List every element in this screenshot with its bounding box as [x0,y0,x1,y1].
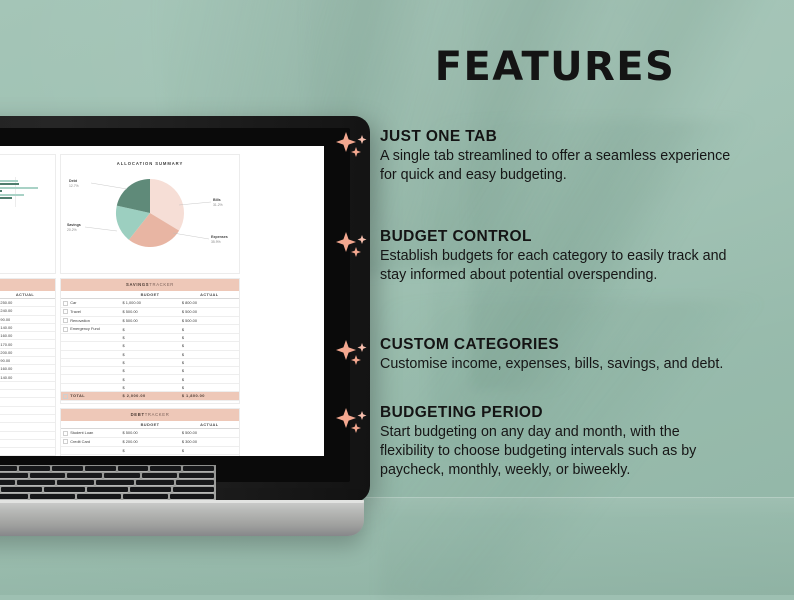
checkbox-icon[interactable] [63,301,68,306]
checkbox-icon[interactable] [63,318,68,323]
sparkle-icon [334,406,372,440]
cell-category[interactable] [61,383,120,391]
cell-amount[interactable]: $ [0,381,55,389]
cell-amount[interactable]: $ 1,000.00 [120,299,179,308]
bar-track [0,186,47,193]
cell-amount[interactable]: $ 500.00 [120,307,179,316]
cell-amount[interactable]: $ 2,000.00 [120,392,179,401]
feature-item-budget-control: BUDGET CONTROL Establish budgets for eac… [380,228,732,285]
savings-tracker-table: BUDGETACTUALCar$ 1,000.00$ 800.00Travel$… [61,291,239,401]
sparkle-icon [334,230,372,264]
feature-title: CUSTOM CATEGORIES [380,336,732,354]
cell-amount[interactable]: $ [180,383,239,391]
allocation-title: ALLOCATION SUMMARY [61,155,239,169]
table-row: $$ [61,334,239,342]
pie-percent-bills: 31.2% [213,203,223,207]
keyboard-row [0,486,216,493]
keyboard-key[interactable] [0,466,17,471]
pie-label-bills: Bills [213,198,221,202]
cell-amount[interactable]: $ [0,423,55,431]
cell-amount[interactable]: $ [120,367,179,375]
debt-tracker-header: DEBTTRACKER [61,409,239,421]
debt-tracker-panel: DEBTTRACKER BUDGETACTUALStudent Loan$ 50… [60,408,240,456]
column-header: BUDGET [120,291,179,299]
checkbox-icon[interactable] [63,309,68,314]
pie-percent-debt: 12.7% [69,184,79,188]
cell-amount[interactable]: $ [180,325,239,334]
cell-amount[interactable]: $ 240.00 [0,307,55,315]
column-header: BUDGET [120,421,179,429]
table-row: $$ [61,446,239,454]
bar-group: Expenses [0,186,47,193]
bar-track [0,193,47,200]
table-row: $$ [61,350,239,358]
cell-amount[interactable]: $ 800.00 [180,299,239,308]
keyboard-key[interactable] [30,473,65,478]
cell-amount[interactable]: $ [180,334,239,342]
cell-category[interactable]: Emergency Fund [61,325,120,334]
cell-amount[interactable]: $ 1,800.00 [180,392,239,401]
column-header-category [61,291,120,299]
keyboard-key[interactable] [104,473,139,478]
keyboard-key[interactable] [77,494,122,499]
cash-flow-bar-chart: BillsExpensesSavingsDebt [0,177,55,207]
bar-budget [0,180,18,182]
table-row: Student Loan$ 500.00$ 500.00 [61,429,239,438]
table-row: $$ [0,415,55,423]
pie-percent-savings: 20.2% [67,228,77,232]
cell-amount[interactable]: $ [120,375,179,383]
cell-category[interactable] [61,350,120,358]
cell-amount[interactable]: $ 140.00 [0,373,55,381]
feature-title: JUST ONE TAB [380,128,732,146]
cell-amount[interactable]: $ [0,390,55,398]
cell-amount[interactable]: $ [0,415,55,423]
cell-category[interactable] [61,367,120,375]
cell-amount[interactable]: $ 500.00 [180,429,239,438]
pie-percent-expenses: 35.9% [211,240,221,244]
column-header: ACTUAL [180,421,239,429]
table-row: Self-development$ 250.00$ 160.00 [0,365,55,373]
bar-track [0,179,47,186]
keyboard-key[interactable] [118,466,149,471]
keyboard-key[interactable] [1,487,42,492]
cell-amount[interactable]: $ [0,439,55,447]
cell-amount[interactable]: $ [0,398,55,406]
checkbox-icon[interactable] [63,439,68,444]
feature-title: BUDGET CONTROL [380,228,732,246]
table-row: Emergency Fund$$ [61,325,239,334]
feature-body: A single tab streamlined to offer a seam… [380,147,732,185]
table-row: Food$ 300.00$ 250.00 [0,299,55,307]
keyboard-key[interactable] [0,473,28,478]
cell-category[interactable]: Student Loan [61,429,120,438]
features-column: FEATURES JUST ONE TAB A single tab strea… [312,0,794,595]
sparkle-icon [334,338,372,372]
cell-category[interactable]: Renovation [61,316,120,325]
keyboard-row [0,493,216,500]
allocation-summary-panel: ALLOCATION SUMMARY Bills 31.2% Expenses [60,154,240,274]
table-row: Renovation$ 500.00$ 500.00 [61,316,239,325]
table-row: Entertainment$ 200.00$ 140.00 [0,373,55,381]
keyboard-key[interactable] [136,480,174,485]
keyboard-row [0,465,216,472]
table-row: Household$ 150.00$ 140.00 [0,323,55,331]
keyboard-key[interactable] [123,494,168,499]
savings-tracker-panel: SAVINGSTRACKER BUDGETACTUALCar$ 1,000.00… [60,278,240,404]
laptop-bezel: LEFT TO SPEND $1,517 CASH FLOW SUMMARY B… [0,128,350,482]
bar-actual [0,190,2,192]
keyboard-key[interactable] [85,466,116,471]
cell-amount[interactable]: $ [120,446,179,454]
cell-amount[interactable]: $ 500.00 [180,307,239,316]
feature-item-custom-categories: CUSTOM CATEGORIES Customise income, expe… [380,336,732,374]
feature-item-budgeting-period: BUDGETING PERIOD Start budgeting on any … [380,404,732,480]
cell-amount[interactable]: $ [0,406,55,414]
table-row: $$ [0,423,55,431]
table-row: Health$ 200.00$ 170.00 [0,340,55,348]
cell-amount[interactable]: $ [0,448,55,456]
keyboard-key[interactable] [19,466,50,471]
bar-actual [0,197,12,199]
cell-amount[interactable]: $ [180,375,239,383]
cell-amount[interactable]: $ [120,454,179,456]
cell-amount[interactable]: $ 500.00 [180,316,239,325]
cell-category[interactable] [61,334,120,342]
table-row: Travel$ 500.00$ 500.00 [61,307,239,316]
cell-category[interactable]: TOTAL [61,392,120,401]
table-total-row: TOTAL$ 2,000.00$ 1,800.00 [61,392,239,401]
pie-label-savings: Savings [67,223,81,227]
table-header-row: BUDGETACTUAL [61,421,239,429]
keyboard-key[interactable] [87,487,128,492]
keyboard-key[interactable] [30,494,75,499]
cell-amount[interactable]: $ 90.00 [0,357,55,365]
pie-label-expenses: Expenses [211,235,228,239]
laptop-screen: LEFT TO SPEND $1,517 CASH FLOW SUMMARY B… [0,146,324,456]
checkbox-icon[interactable] [63,327,68,332]
keyboard-key[interactable] [179,473,214,478]
cash-flow-title: CASH FLOW SUMMARY [0,155,55,169]
laptop-base-edge [0,500,364,503]
table-header-row: BUDGETACTUAL [0,291,55,299]
cell-amount[interactable]: $ 170.00 [0,340,55,348]
cell-category[interactable]: Credit Card [61,437,120,446]
cell-amount[interactable]: $ [120,383,179,391]
column-header-category [61,421,120,429]
bar-budget [0,194,24,196]
feature-body: Start budgeting on any day and month, wi… [380,423,732,480]
keyboard-key[interactable] [52,466,83,471]
keyboard-key[interactable] [17,480,55,485]
keyboard-key[interactable] [96,480,134,485]
table-row: $$ [0,448,55,456]
table-row: Education$ 200.00$ 160.00 [0,332,55,340]
table-row: Car$ 1,000.00$ 800.00 [61,299,239,308]
keyboard-key[interactable] [170,494,215,499]
keyboard-key[interactable] [176,480,214,485]
column-header: ACTUAL [0,291,55,299]
bar-budget [0,187,38,189]
debt-tracker-table: BUDGETACTUALStudent Loan$ 500.00$ 500.00… [61,421,239,456]
bar-group: Debt [0,200,47,207]
cell-amount[interactable]: $ 200.00 [120,437,179,446]
keyboard-key[interactable] [173,487,214,492]
table-row: Gifts$ 100.00$ 90.00 [0,357,55,365]
expense-summary-panel: EXPENSESUMMARY BUDGETACTUALFood$ 300.00$… [0,278,56,456]
bar-track [0,200,47,207]
table-row: $$ [61,367,239,375]
cell-category[interactable] [61,454,120,456]
table-row: $$ [61,383,239,391]
cell-amount[interactable]: $ [120,325,179,334]
cell-amount[interactable]: $ 160.00 [0,332,55,340]
cell-category[interactable]: Car [61,299,120,308]
expense-summary-header: EXPENSESUMMARY [0,279,55,291]
cell-amount[interactable]: $ [180,350,239,358]
cell-amount[interactable]: $ [120,342,179,350]
page-title: FEATURES [320,44,790,90]
keyboard-row [0,472,216,479]
table-row: $$ [61,342,239,350]
cash-flow-legend: Budget Actual [0,170,55,174]
cell-amount[interactable]: $ [120,350,179,358]
table-row: $$ [61,454,239,456]
cell-category[interactable]: Travel [61,307,120,316]
cell-amount[interactable]: $ [180,367,239,375]
keyboard-key[interactable] [183,466,214,471]
column-header: ACTUAL [180,291,239,299]
checkbox-icon[interactable] [63,394,68,399]
table-row: $$ [61,358,239,366]
table-row: Beauty$ 300.00$ 200.00 [0,348,55,356]
table-row: $$ [0,406,55,414]
sparkle-icon [334,130,372,164]
table-row: $ 200.00$ [0,381,55,389]
cell-category[interactable] [61,446,120,454]
table-row: Credit Card$ 200.00$ 300.00 [61,437,239,446]
keyboard-key[interactable] [67,473,102,478]
keyboard-key[interactable] [0,494,28,499]
savings-tracker-header: SAVINGSTRACKER [61,279,239,291]
table-row: $$ [0,390,55,398]
table-row: $$ [61,375,239,383]
bar-group: Bills [0,179,47,186]
keyboard-key[interactable] [57,480,95,485]
cell-amount[interactable]: $ 300.00 [180,437,239,446]
table-row: Transportation$ 100.00$ 90.00 [0,315,55,323]
feature-title: BUDGETING PERIOD [380,404,732,422]
cell-category[interactable] [61,358,120,366]
cell-amount[interactable]: $ [180,342,239,350]
bar-group: Savings [0,193,47,200]
cell-amount[interactable]: $ [180,446,239,454]
feature-item-just-one-tab: JUST ONE TAB A single tab streamlined to… [380,128,732,185]
cell-amount[interactable]: $ [180,454,239,456]
cell-amount[interactable]: $ 500.00 [120,429,179,438]
cell-category[interactable] [61,342,120,350]
allocation-pie-chart: Bills 31.2% Expenses 35.9% Savings 20.2%… [61,169,239,261]
keyboard-row [0,479,216,486]
feature-body: Customise income, expenses, bills, savin… [380,355,732,374]
bar-actual [0,183,19,185]
keyboard-key[interactable] [0,480,15,485]
table-row: $$ [0,439,55,447]
keyboard-key[interactable] [44,487,85,492]
table-row: $$ [0,431,55,439]
checkbox-icon[interactable] [63,431,68,436]
cell-amount[interactable]: $ 140.00 [0,323,55,331]
cell-amount[interactable]: $ 500.00 [120,316,179,325]
cell-category[interactable] [61,375,120,383]
expense-summary-table: BUDGETACTUALFood$ 300.00$ 250.00Dining O… [0,291,55,456]
cell-amount[interactable]: $ [180,358,239,366]
cell-amount[interactable]: $ 90.00 [0,315,55,323]
keyboard-key[interactable] [142,473,177,478]
pie-label-debt: Debt [69,179,78,183]
keyboard-key[interactable] [130,487,171,492]
feature-body: Establish budgets for each category to e… [380,247,732,285]
cell-amount[interactable]: $ 160.00 [0,365,55,373]
cash-flow-summary-panel: CASH FLOW SUMMARY Budget Actual BillsExp… [0,154,56,274]
table-row: Dining Out$ 250.00$ 240.00 [0,307,55,315]
cell-amount[interactable]: $ [120,358,179,366]
table-header-row: BUDGETACTUAL [61,291,239,299]
cell-amount[interactable]: $ 250.00 [0,299,55,307]
cell-amount[interactable]: $ [0,431,55,439]
keyboard-key[interactable] [150,466,181,471]
table-row: $$ [0,398,55,406]
laptop-base [0,500,364,536]
cell-amount[interactable]: $ 200.00 [0,348,55,356]
laptop-keyboard [0,465,216,502]
cell-amount[interactable]: $ [120,334,179,342]
